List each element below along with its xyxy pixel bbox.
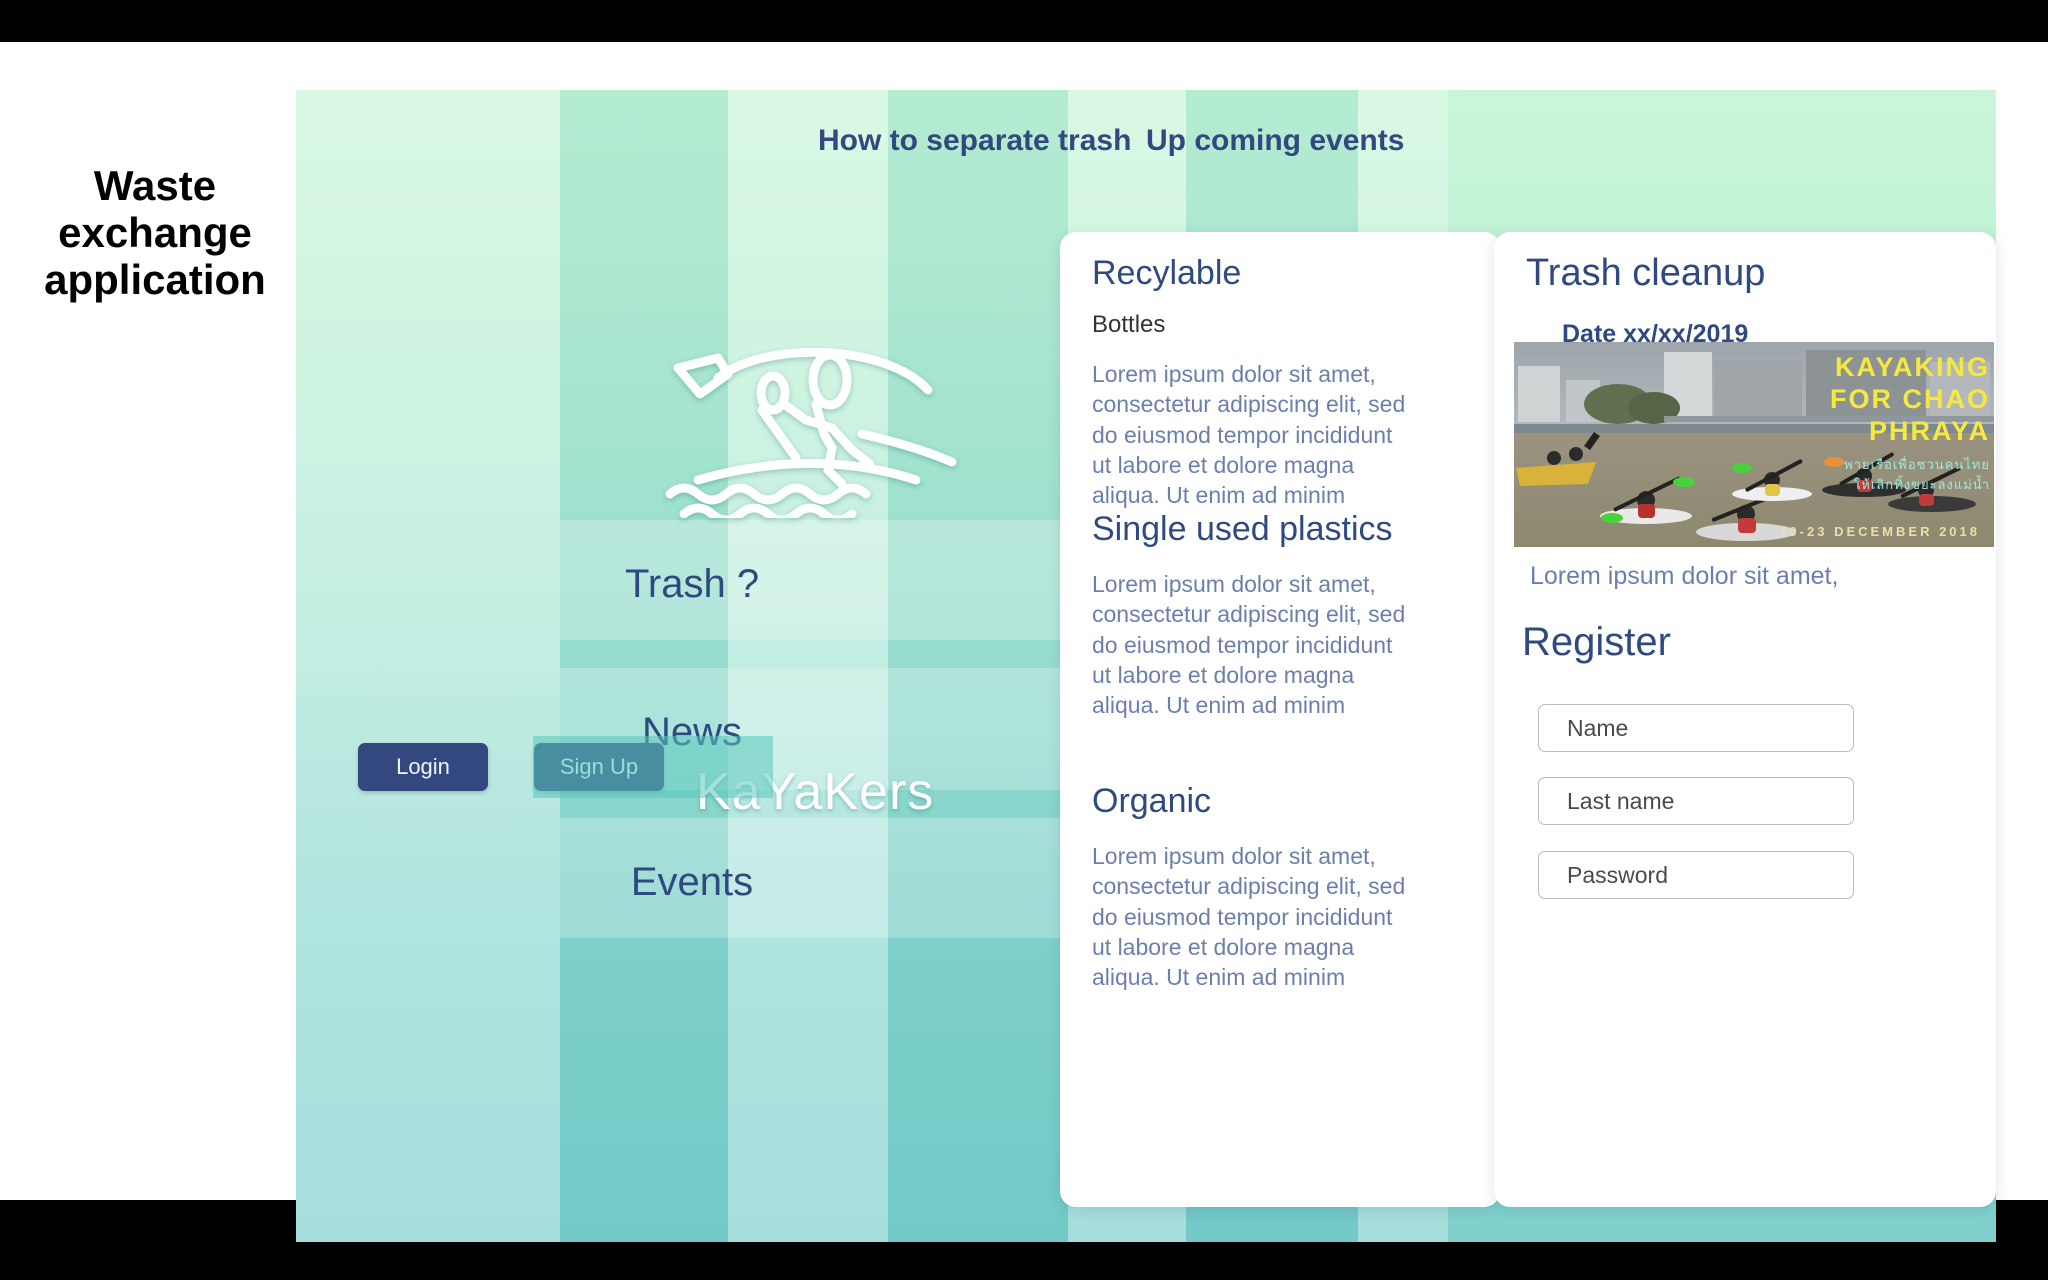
poster-line-1: KAYAKING (1835, 354, 1990, 381)
screenshot-root: Waste exchange application (0, 0, 2048, 1280)
signup-overlay-band (533, 736, 773, 798)
category-body: Lorem ipsum dolor sit amet, consectetur … (1092, 569, 1500, 721)
category-recyclable: Recylable Bottles Lorem ipsum dolor sit … (1092, 254, 1500, 511)
nav-item-trash[interactable]: Trash ? (296, 562, 1088, 607)
nav-item-events[interactable]: Events (296, 860, 1088, 905)
category-organic: Organic Lorem ipsum dolor sit amet, cons… (1092, 782, 1500, 993)
bg-band-2 (560, 90, 728, 1242)
event-poster-image: KAYAKING FOR CHAO PHRAYA พายเรือเพื่อชวน… (1514, 342, 1994, 547)
event-description: Lorem ipsum dolor sit amet, (1530, 562, 1838, 591)
event-title: Trash cleanup (1526, 252, 1765, 295)
trash-separation-card: Recylable Bottles Lorem ipsum dolor sit … (1060, 232, 1500, 1207)
last-name-field[interactable]: Last name (1538, 777, 1854, 825)
login-button[interactable]: Login (358, 743, 488, 791)
register-heading: Register (1522, 620, 1671, 665)
bg-band-1 (296, 90, 560, 1242)
poster-line-3: PHRAYA (1869, 418, 1990, 445)
category-body: Lorem ipsum dolor sit amet, consectetur … (1092, 359, 1500, 511)
category-subitem: Bottles (1092, 311, 1500, 339)
slide-canvas: Waste exchange application (0, 42, 2048, 1200)
bg-band-3 (728, 90, 888, 1242)
poster-thai-line-2: ให้เลิกทิ้งขยะลงแม่น้ำ (1854, 474, 1990, 495)
password-field[interactable]: Password (1538, 851, 1854, 899)
poster-line-2: FOR CHAO (1830, 386, 1990, 413)
section-heading-separate-trash: How to separate trash (818, 124, 1148, 158)
category-heading: Recylable (1092, 254, 1500, 293)
poster-thai-line-1: พายเรือเพื่อชวนคนไทย (1844, 454, 1990, 475)
poster-date: 10-23 DECEMBER 2018 (1779, 524, 1980, 539)
bg-band-4 (888, 90, 1068, 1242)
upcoming-event-card: Trash cleanup Date xx/xx/2019 (1494, 232, 1996, 1207)
category-heading: Single used plastics (1092, 510, 1500, 549)
name-field[interactable]: Name (1538, 704, 1854, 752)
kayaker-illustration-icon (656, 338, 986, 518)
category-body: Lorem ipsum dolor sit amet, consectetur … (1092, 841, 1500, 993)
category-single-used-plastics: Single used plastics Lorem ipsum dolor s… (1092, 510, 1500, 721)
category-heading: Organic (1092, 782, 1500, 821)
page-title: Waste exchange application (30, 162, 280, 303)
section-heading-upcoming-events: Up coming events (1146, 124, 1404, 158)
